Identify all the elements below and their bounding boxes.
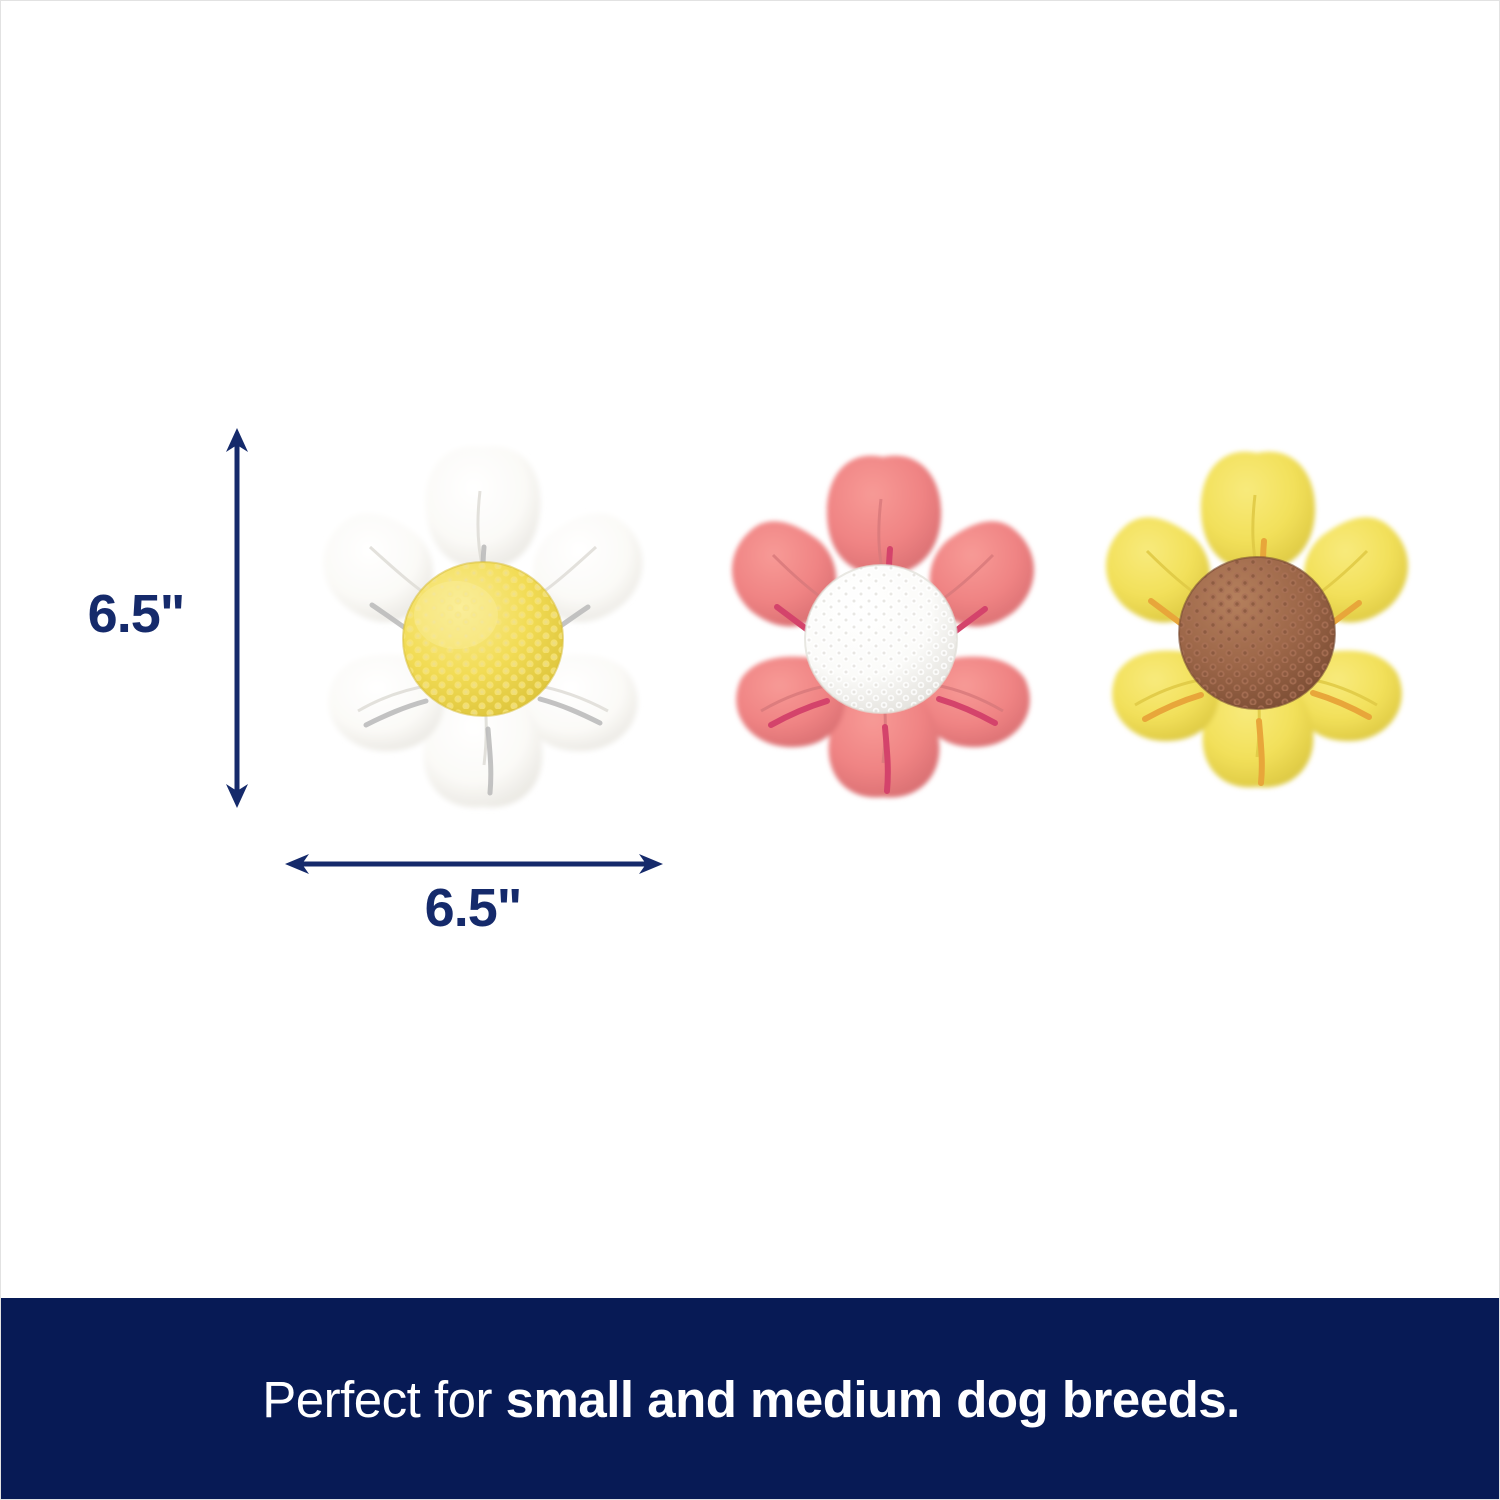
- bottom-banner: Perfect for small and medium dog breeds.: [1, 1298, 1500, 1500]
- white-daisy-plush-toy: [278, 429, 688, 821]
- banner-caption-prefix: Perfect for: [262, 1371, 505, 1428]
- banner-caption: Perfect for small and medium dog breeds.: [262, 1370, 1240, 1429]
- coral-flower-plush-toy: [685, 441, 1075, 811]
- width-dimension-label: 6.5": [348, 881, 598, 935]
- product-image-canvas: 6.5" 6.5": [0, 0, 1500, 1500]
- yellow-sunflower-plush-toy: [1065, 439, 1449, 799]
- height-dimension-label: 6.5": [61, 587, 211, 641]
- banner-caption-emphasis: small and medium dog breeds.: [506, 1371, 1240, 1428]
- height-dimension-arrow: [217, 426, 257, 816]
